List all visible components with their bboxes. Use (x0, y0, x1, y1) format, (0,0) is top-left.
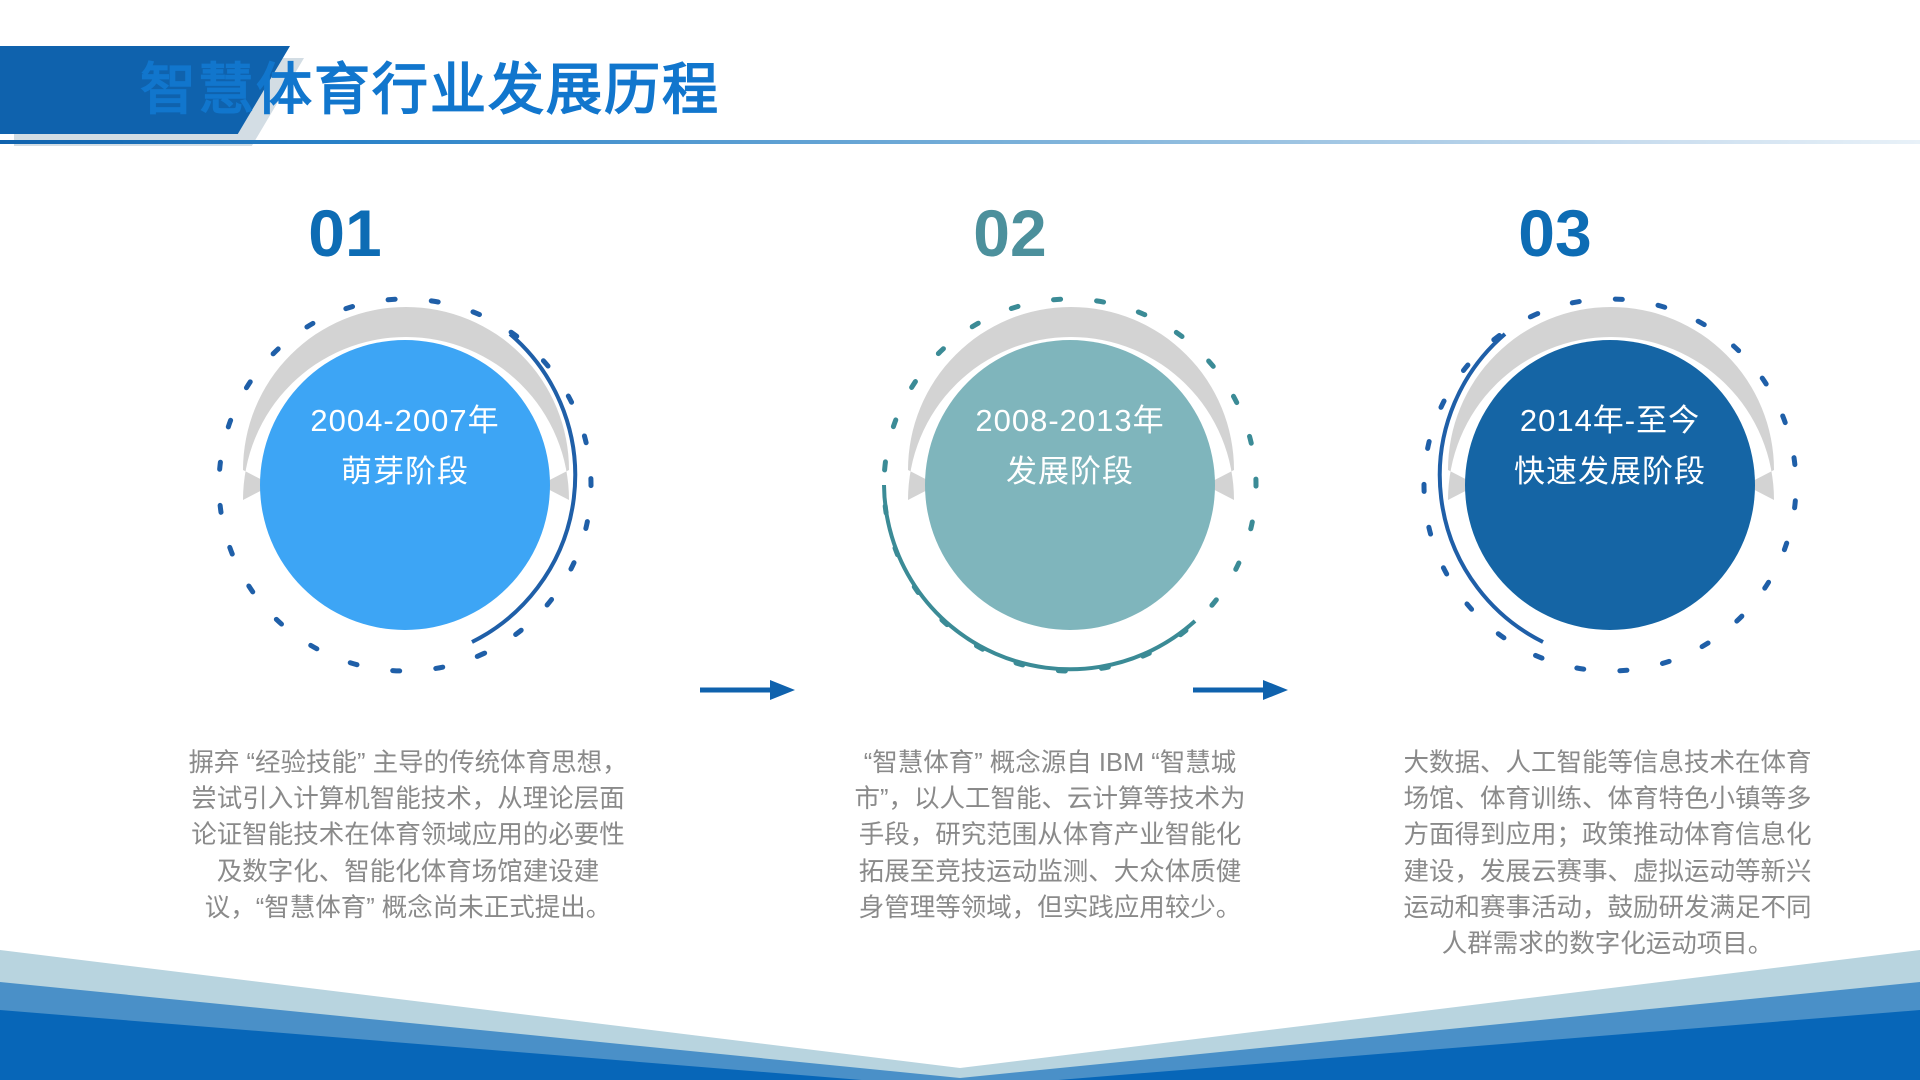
timeline-stages: 01 2004-2007年 萌芽阶段 摒弃 “经验技能” 主导的传统体育思想，尝… (0, 150, 1920, 930)
page-title: 智慧体育行业发展历程 (140, 46, 720, 134)
header-divider-rule (0, 140, 1920, 144)
arrow-right-icon (700, 677, 795, 703)
stage-2-number: 02 (775, 200, 1245, 266)
page-header: 智慧体育行业发展历程 (0, 0, 1920, 150)
stage-2[interactable]: 02 2008-2013年 发展阶段 “智慧体育” 概念源自 IBM “智慧城市… (795, 150, 1265, 930)
stage-1[interactable]: 01 2004-2007年 萌芽阶段 摒弃 “经验技能” 主导的传统体育思想，尝… (170, 150, 640, 930)
stage-1-rings-svg (210, 290, 600, 680)
stage-2-description: “智慧体育” 概念源自 IBM “智慧城市”，以人工智能、云计算等技术为手段，研… (850, 745, 1250, 926)
stage-1-inner-circle (260, 340, 550, 630)
bottom-decoration (0, 910, 1920, 1080)
stage-2-circle-graphic: 2008-2013年 发展阶段 (875, 290, 1265, 680)
stage-1-number: 01 (110, 200, 580, 266)
stage-2-rings-svg (875, 290, 1265, 680)
bottom-wave-svg (0, 910, 1920, 1080)
stage-3[interactable]: 03 2014年-至今 快速发展阶段 大数据、人工智能等信息技术在体育场馆、体育… (1300, 150, 1770, 930)
stage-3-circle-graphic: 2014年-至今 快速发展阶段 (1415, 290, 1805, 680)
stage-3-rings-svg (1415, 290, 1805, 680)
arrow-stage2-to-stage3 (1193, 677, 1288, 703)
stage-2-inner-circle (925, 340, 1215, 630)
stage-1-circle-graphic: 2004-2007年 萌芽阶段 (210, 290, 600, 680)
arrow-right-icon (1193, 677, 1288, 703)
arrow-stage1-to-stage2 (700, 677, 795, 703)
stage-3-number: 03 (1320, 200, 1790, 266)
stage-1-description: 摒弃 “经验技能” 主导的传统体育思想，尝试引入计算机智能技术，从理论层面论证智… (188, 745, 628, 926)
stage-3-inner-circle (1465, 340, 1755, 630)
